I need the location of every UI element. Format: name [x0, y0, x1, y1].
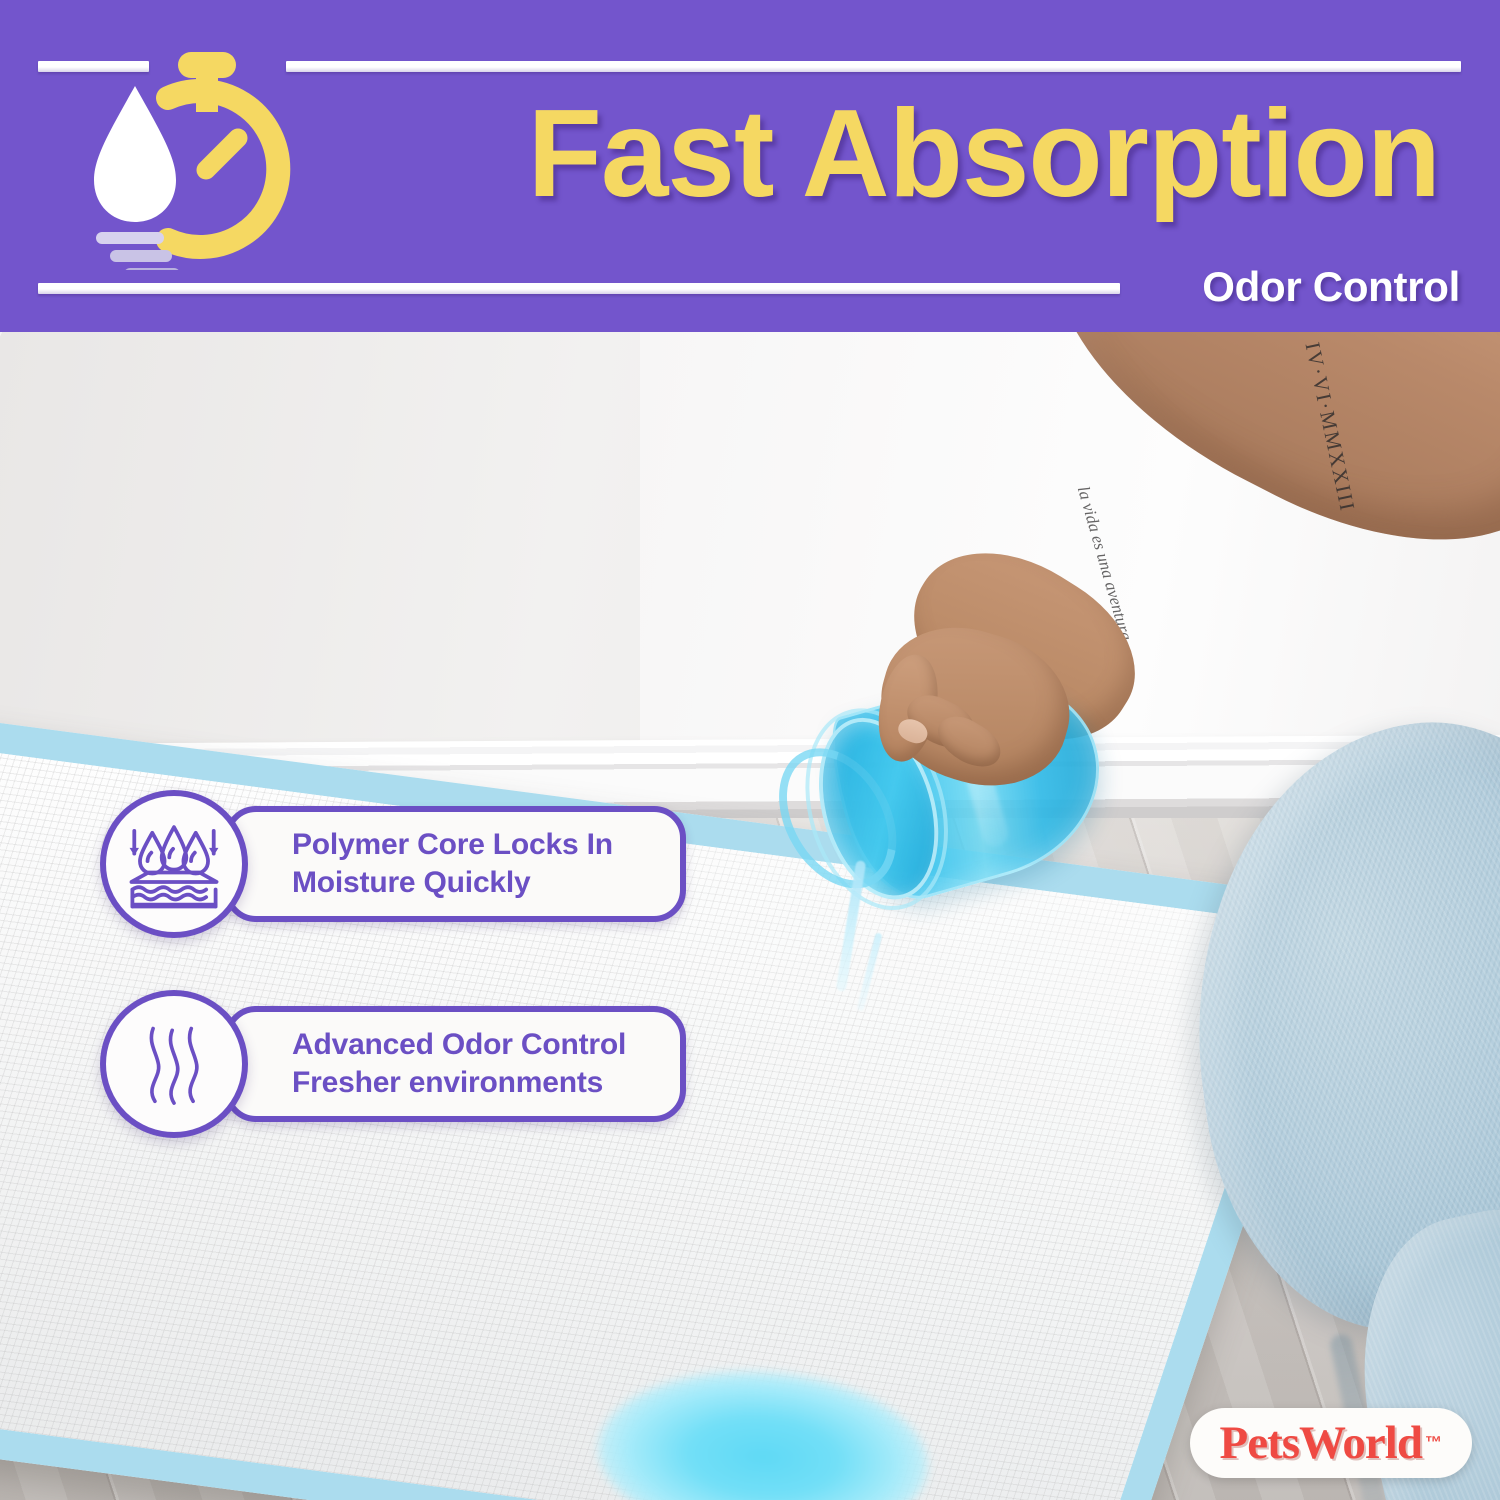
brand-name: PetsWorld: [1220, 1418, 1422, 1468]
feature-badge-line-1: Advanced Odor Control: [292, 1026, 680, 1064]
product-photo: IV·VI·MMXXIII la vida es una aventura: [0, 332, 1500, 1500]
feature-badge-pill: Advanced Odor Control Fresher environmen…: [224, 1006, 686, 1122]
trademark-symbol: ™: [1425, 1433, 1442, 1453]
brand-logo: PetsWorld ™: [1190, 1408, 1472, 1478]
feature-badge-polymer-core[interactable]: Polymer Core Locks In Moisture Quickly: [100, 790, 700, 938]
pouring-liquid-stream-lower: [856, 932, 882, 1011]
feature-badge-line-1: Polymer Core Locks In: [292, 826, 680, 864]
header-rule-bottom: [38, 283, 1120, 294]
page-title: Fast Absorption: [401, 84, 1440, 224]
forearm: [993, 332, 1500, 606]
header-rule-top-right: [286, 61, 1461, 72]
feature-badge-list: Polymer Core Locks In Moisture Quickly: [100, 790, 700, 1190]
droplets-absorbing-into-layers-icon: [100, 790, 248, 938]
header-banner: Fast Absorption Odor Control: [0, 0, 1500, 332]
water-droplet-stopwatch-icon: [78, 42, 306, 270]
header-subtitle: Odor Control: [1202, 262, 1460, 312]
odor-waves-icon: [100, 990, 248, 1138]
feature-badge-odor-control[interactable]: Advanced Odor Control Fresher environmen…: [100, 990, 700, 1138]
feature-badge-line-2: Moisture Quickly: [292, 864, 680, 902]
feature-badge-pill: Polymer Core Locks In Moisture Quickly: [224, 806, 686, 922]
feature-badge-line-2: Fresher environments: [292, 1064, 680, 1102]
product-feature-image: Fast Absorption Odor Control IV·VI·MMXXI…: [0, 0, 1500, 1500]
